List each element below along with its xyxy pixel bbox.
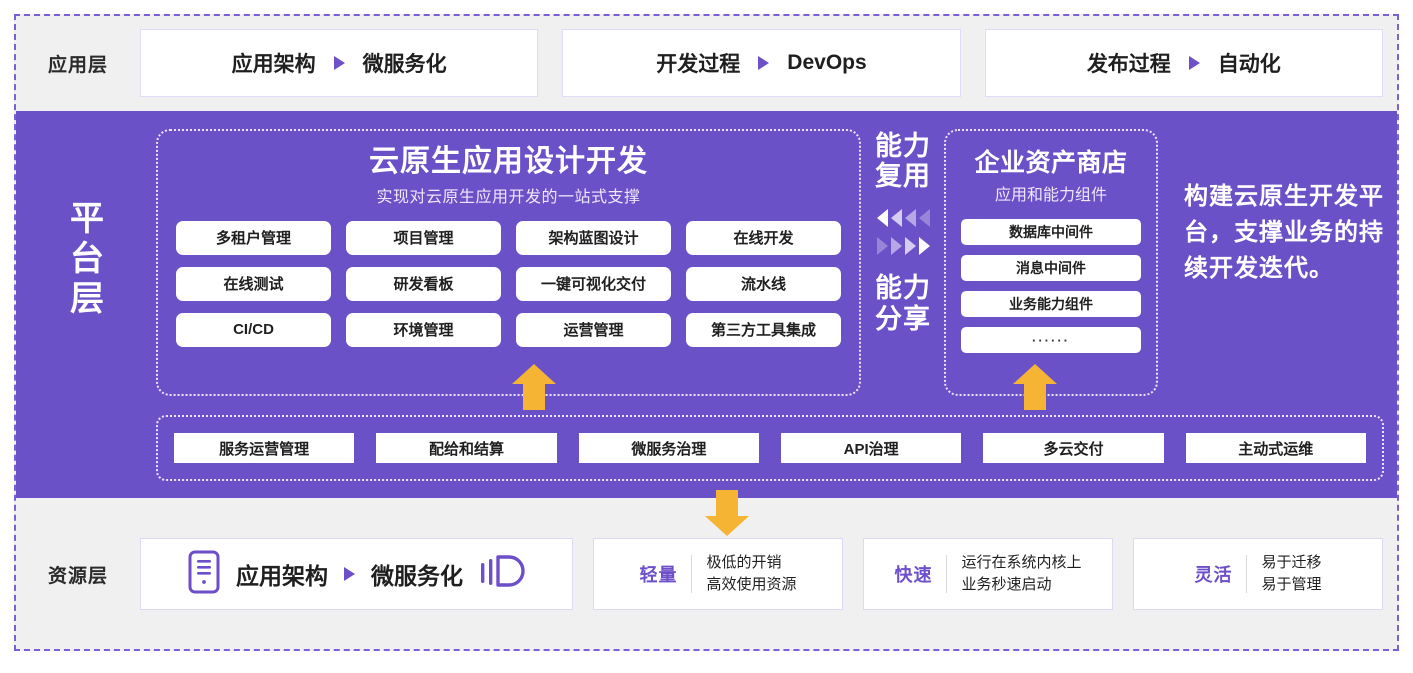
ops-chip[interactable]: 微服务治理 <box>579 433 759 463</box>
triangle-right-icon <box>344 567 355 581</box>
feature-description: 运行在系统内核上 业务秒速启动 <box>961 552 1081 596</box>
asset-chip[interactable]: 业务能力组件 <box>961 291 1141 317</box>
feature-divider <box>946 555 947 593</box>
capability-exchange-column: 能力 复用 能力 分享 <box>861 131 945 334</box>
platform-ops-panel: 服务运营管理 配给和结算 微服务治理 API治理 多云交付 主动式运维 <box>156 415 1384 481</box>
asset-chip-ellipsis[interactable]: ······ <box>961 327 1141 353</box>
triangle-right-icon <box>891 237 902 255</box>
app-card-release[interactable]: 发布过程 自动化 <box>985 29 1383 97</box>
platform-label-char-2: 台 <box>32 239 144 279</box>
cloud-native-design-panel: 云原生应用设计开发 实现对云原生应用开发的一站式支撑 多租户管理 项目管理 架构… <box>156 129 861 396</box>
app-card-right-label: DevOps <box>787 51 866 75</box>
app-card-left-label: 开发过程 <box>656 48 740 78</box>
capability-reuse-line-1: 能力 <box>861 131 945 161</box>
platform-slogan: 构建云原生开发平台，支撑业务的持续开发迭代。 <box>1184 179 1384 287</box>
capability-share-line-1: 能力 <box>861 273 945 303</box>
platform-layer: 平 台 层 云原生应用设计开发 实现对云原生应用开发的一站式支撑 多租户管理 项… <box>16 111 1397 498</box>
arrow-up-icon <box>512 364 556 410</box>
app-card-left-label: 发布过程 <box>1087 48 1171 78</box>
feature-key-label: 灵活 <box>1194 561 1232 587</box>
design-panel-grid: 多租户管理 项目管理 架构蓝图设计 在线开发 在线测试 研发看板 一键可视化交付… <box>176 221 841 347</box>
feature-line-2: 易于管理 <box>1261 574 1321 596</box>
capability-share-arrows <box>861 233 945 259</box>
enterprise-asset-store-panel: 企业资产商店 应用和能力组件 数据库中间件 消息中间件 业务能力组件 ·····… <box>944 129 1158 396</box>
feature-key-label: 快速 <box>894 561 932 587</box>
feature-card-flexible[interactable]: 灵活 易于迁移 易于管理 <box>1133 538 1383 610</box>
resource-main-card-text: 应用架构 微服务化 <box>236 557 463 591</box>
platform-layer-label: 平 台 层 <box>32 199 144 319</box>
design-chip[interactable]: 运营管理 <box>516 313 671 347</box>
triangle-left-icon <box>891 209 902 227</box>
resource-main-right-label: 微服务化 <box>371 557 463 591</box>
resource-layer-cards: 应用架构 微服务化 轻量 极低的开销 高效使用资源 <box>140 538 1397 610</box>
feature-divider <box>691 555 692 593</box>
app-card-right-label: 自动化 <box>1218 48 1281 78</box>
design-chip[interactable]: 环境管理 <box>346 313 501 347</box>
application-layer-cards: 应用架构 微服务化 开发过程 DevOps 发布过程 自动化 <box>140 29 1397 97</box>
triangle-right-icon <box>334 56 345 70</box>
application-layer: 应用层 应用架构 微服务化 开发过程 DevOps 发布过程 自动化 <box>16 16 1397 110</box>
app-card-architecture[interactable]: 应用架构 微服务化 <box>140 29 538 97</box>
triangle-right-icon <box>1189 56 1200 70</box>
design-chip[interactable]: 在线测试 <box>176 267 331 301</box>
feature-line-2: 业务秒速启动 <box>961 574 1081 596</box>
design-chip[interactable]: 项目管理 <box>346 221 501 255</box>
feature-divider <box>1246 555 1247 593</box>
platform-label-char-3: 层 <box>32 279 144 319</box>
design-chip[interactable]: 架构蓝图设计 <box>516 221 671 255</box>
design-panel-subtitle: 实现对云原生应用开发的一站式支撑 <box>176 183 841 207</box>
capability-reuse-line-2: 复用 <box>861 161 945 191</box>
asset-chip[interactable]: 消息中间件 <box>961 255 1141 281</box>
feature-line-2: 高效使用资源 <box>706 574 796 596</box>
arrow-up-icon <box>1013 364 1057 410</box>
feature-description: 易于迁移 易于管理 <box>1261 552 1321 596</box>
application-layer-label: 应用层 <box>16 50 140 77</box>
design-chip[interactable]: 第三方工具集成 <box>686 313 841 347</box>
asset-panel-title: 企业资产商店 <box>961 143 1141 179</box>
resource-layer-label: 资源层 <box>16 561 140 588</box>
feature-card-lightweight[interactable]: 轻量 极低的开销 高效使用资源 <box>593 538 843 610</box>
resource-main-card[interactable]: 应用架构 微服务化 <box>140 538 573 610</box>
feature-line-1: 运行在系统内核上 <box>961 552 1081 574</box>
feature-line-1: 易于迁移 <box>1261 552 1321 574</box>
app-card-devprocess[interactable]: 开发过程 DevOps <box>562 29 960 97</box>
cloud-speed-icon <box>479 552 525 597</box>
capability-reuse-arrows <box>861 205 945 231</box>
feature-card-fast[interactable]: 快速 运行在系统内核上 业务秒速启动 <box>863 538 1113 610</box>
diagram-canvas: 应用层 应用架构 微服务化 开发过程 DevOps 发布过程 自动化 平 台 <box>0 0 1413 673</box>
ops-chip[interactable]: 服务运营管理 <box>174 433 354 463</box>
design-chip[interactable]: 在线开发 <box>686 221 841 255</box>
triangle-right-icon <box>877 237 888 255</box>
design-chip[interactable]: 一键可视化交付 <box>516 267 671 301</box>
app-card-left-label: 应用架构 <box>232 48 316 78</box>
triangle-left-icon <box>877 209 888 227</box>
arrow-down-icon <box>705 490 749 536</box>
asset-panel-subtitle: 应用和能力组件 <box>961 181 1141 205</box>
triangle-right-icon <box>758 56 769 70</box>
feature-line-1: 极低的开销 <box>706 552 796 574</box>
triangle-left-icon <box>919 209 930 227</box>
design-chip[interactable]: CI/CD <box>176 313 331 347</box>
app-card-right-label: 微服务化 <box>363 48 447 78</box>
server-icon <box>188 550 220 599</box>
capability-share-line-2: 分享 <box>861 304 945 334</box>
resource-main-left-label: 应用架构 <box>236 557 328 591</box>
capability-share-label: 能力 分享 <box>861 273 945 333</box>
feature-description: 极低的开销 高效使用资源 <box>706 552 796 596</box>
ops-chip[interactable]: 多云交付 <box>983 433 1163 463</box>
ops-chip[interactable]: 主动式运维 <box>1186 433 1366 463</box>
design-chip[interactable]: 研发看板 <box>346 267 501 301</box>
capability-reuse-label: 能力 复用 <box>861 131 945 191</box>
triangle-left-icon <box>905 209 916 227</box>
triangle-right-icon <box>919 237 930 255</box>
design-panel-title: 云原生应用设计开发 <box>176 145 841 179</box>
triangle-right-icon <box>905 237 916 255</box>
platform-label-char-1: 平 <box>32 199 144 239</box>
feature-key-label: 轻量 <box>639 561 677 587</box>
ops-chip[interactable]: 配给和结算 <box>376 433 556 463</box>
design-chip[interactable]: 流水线 <box>686 267 841 301</box>
asset-chip[interactable]: 数据库中间件 <box>961 219 1141 245</box>
asset-panel-list: 数据库中间件 消息中间件 业务能力组件 ······ <box>961 219 1141 353</box>
ops-chip[interactable]: API治理 <box>781 433 961 463</box>
design-chip[interactable]: 多租户管理 <box>176 221 331 255</box>
